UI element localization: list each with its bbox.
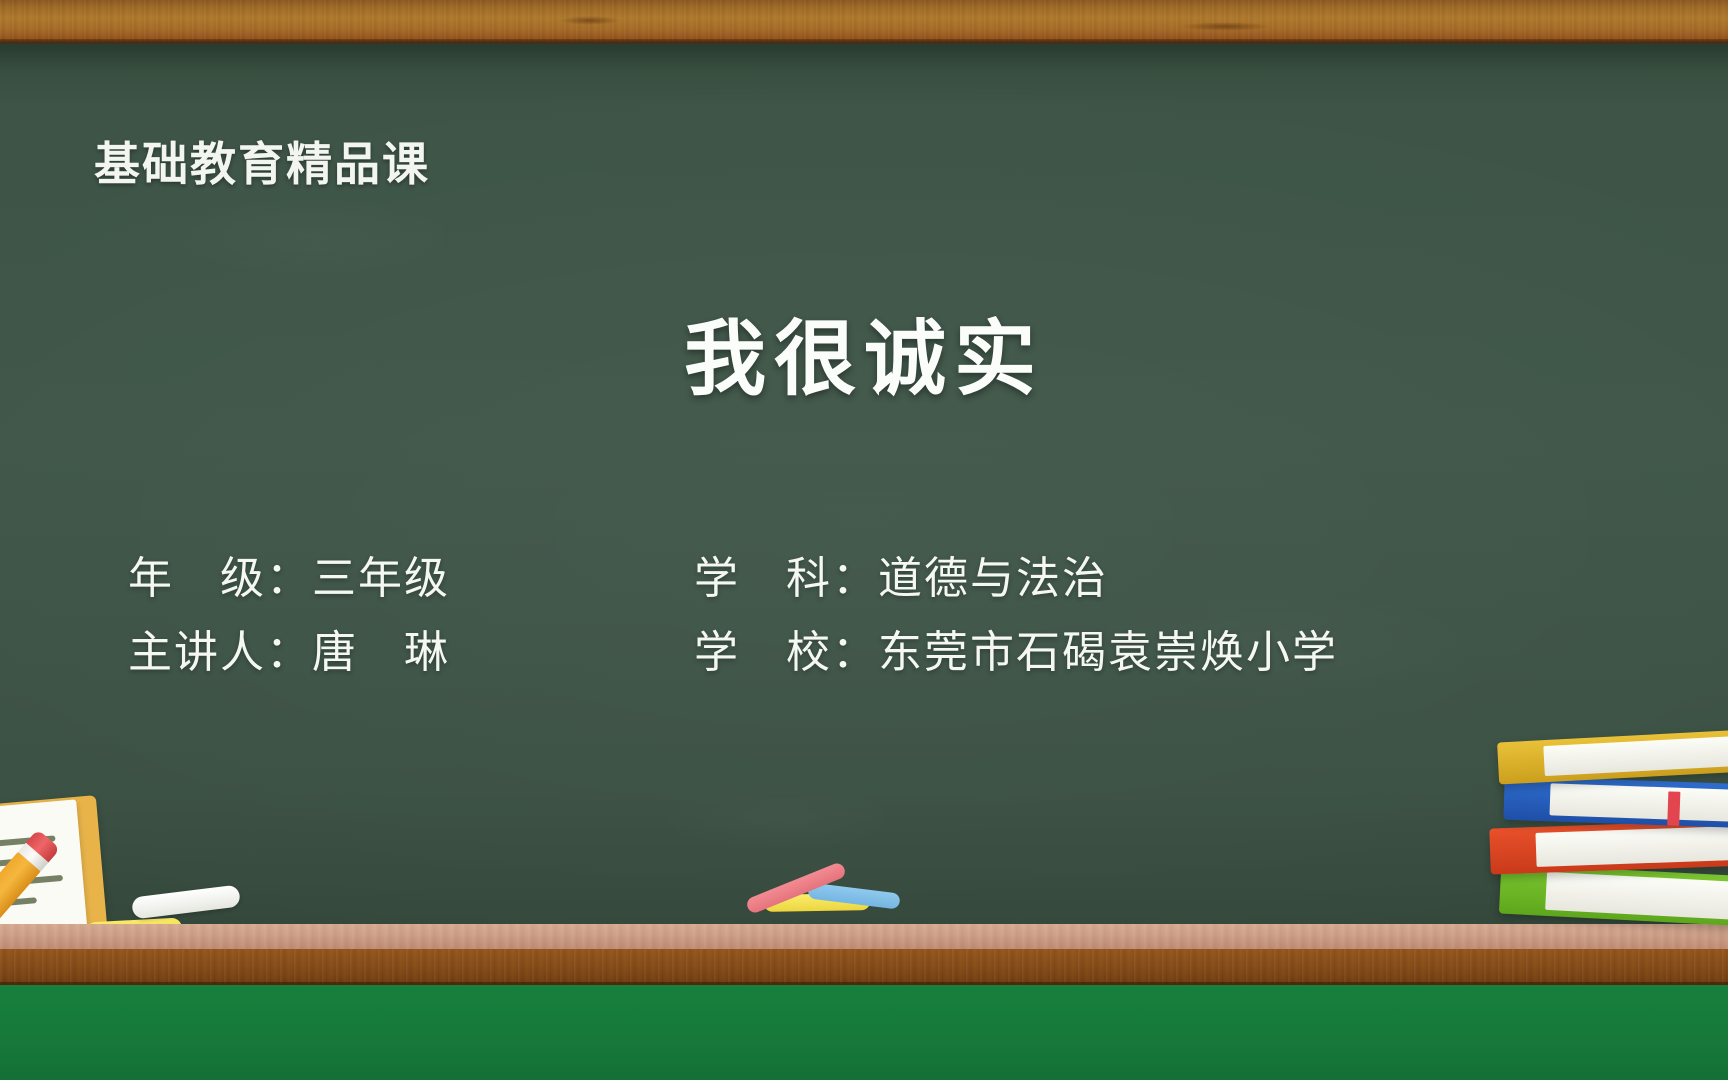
clipboard-decoration	[0, 770, 214, 950]
presenter-label: 主讲人：唐 琳	[128, 616, 694, 680]
grade-label: 年 级：三年级	[128, 542, 694, 606]
bookmark-icon	[1667, 791, 1680, 825]
school-label: 学 校：东莞市石碣袁崇焕小学	[694, 616, 1548, 680]
wood-grain-knot	[560, 16, 620, 25]
course-program-title: 基础教育精品课	[94, 128, 430, 194]
wood-grain-knot	[1180, 22, 1270, 31]
book-pages	[1543, 736, 1728, 776]
info-row: 年 级：三年级 学 科：道德与法治	[128, 542, 1548, 616]
chalkboard-top-shadow	[0, 43, 1728, 71]
info-row: 主讲人：唐 琳 学 校：东莞市石碣袁崇焕小学	[128, 616, 1548, 690]
presentation-slide: 基础教育精品课 我很诚实 年 级：三年级 学 科：道德与法治 主讲人：唐 琳 学…	[0, 0, 1728, 1080]
book-blue-icon	[1503, 776, 1728, 829]
wood-frame-top	[0, 0, 1728, 43]
book-stack-decoration	[1482, 728, 1728, 936]
book-red-icon	[1489, 819, 1728, 874]
subject-label: 学 科：道德与法治	[694, 542, 1548, 606]
chalk-ledge-surface	[0, 924, 1728, 949]
book-pages	[1545, 872, 1728, 920]
lesson-info-block: 年 级：三年级 学 科：道德与法治 主讲人：唐 琳 学 校：东莞市石碣袁崇焕小学	[128, 542, 1548, 690]
chalk-sticks-decoration	[736, 862, 896, 922]
book-pages	[1549, 783, 1728, 822]
lesson-title: 我很诚实	[0, 292, 1728, 411]
chalk-ledge	[0, 924, 1728, 985]
book-yellow-icon	[1497, 729, 1728, 784]
book-pages	[1535, 826, 1728, 867]
chalk-ledge-face	[0, 949, 1728, 985]
floor-background	[0, 985, 1728, 1080]
